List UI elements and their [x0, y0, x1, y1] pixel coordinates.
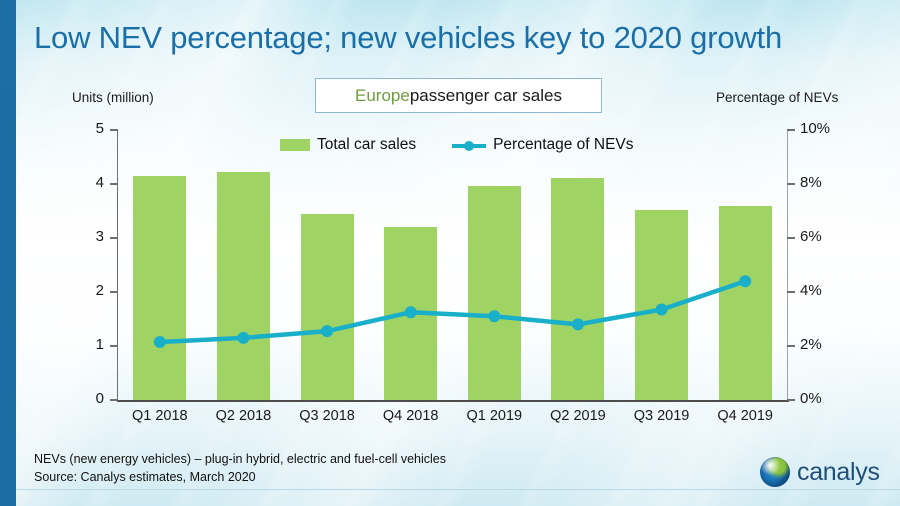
x-axis-label: Q1 2018 [118, 408, 202, 424]
footer-divider [16, 489, 900, 490]
bar [551, 178, 604, 400]
x-axis-label: Q4 2019 [703, 408, 787, 424]
left-axis-caption: Units (million) [72, 90, 154, 105]
y-tick-right [787, 237, 795, 238]
canalys-logo: canalys [760, 457, 880, 487]
y-axis-left [117, 130, 118, 401]
legend-label-percentage-of-nevs: Percentage of NEVs [493, 136, 633, 154]
legend-line-swatch-icon [452, 139, 486, 151]
legend-label-total-car-sales: Total car sales [317, 136, 416, 154]
x-axis-label: Q1 2019 [452, 408, 536, 424]
y-tick-label-right: 4% [800, 282, 822, 299]
y-tick-label-right: 10% [800, 120, 830, 137]
legend-item-total-car-sales: Total car sales [280, 136, 416, 154]
y-tick-label-left: 5 [80, 120, 104, 137]
logo-text: canalys [797, 458, 880, 486]
bar [468, 186, 521, 400]
bar [133, 176, 186, 400]
chart-legend: Total car sales Percentage of NEVs [280, 134, 634, 156]
bar [217, 172, 270, 400]
footnote: NEVs (new energy vehicles) – plug-in hyb… [34, 450, 446, 486]
x-axis-label: Q2 2018 [201, 408, 285, 424]
y-tick-label-left: 1 [80, 336, 104, 353]
subtitle-rest: passenger car sales [410, 86, 562, 106]
bar [719, 206, 772, 400]
y-tick-left [110, 399, 118, 400]
subtitle-highlight: Europe [355, 86, 410, 106]
y-tick-label-left: 4 [80, 174, 104, 191]
x-axis-label: Q3 2019 [620, 408, 704, 424]
y-tick-label-left: 2 [80, 282, 104, 299]
y-tick-right [787, 399, 795, 400]
y-tick-left [110, 183, 118, 184]
legend-item-percentage-of-nevs: Percentage of NEVs [452, 136, 633, 154]
left-accent-band [0, 0, 16, 506]
y-tick-left [110, 345, 118, 346]
slide-canvas: Low NEV percentage; new vehicles key to … [0, 0, 900, 506]
y-tick-left [110, 237, 118, 238]
chart-subtitle-box: Europe passenger car sales [315, 78, 602, 113]
y-tick-left [110, 129, 118, 130]
x-axis-line [117, 400, 789, 402]
page-title: Low NEV percentage; new vehicles key to … [34, 18, 884, 58]
y-axis-right [787, 130, 788, 401]
y-tick-label-right: 6% [800, 228, 822, 245]
footnote-line-1: NEVs (new energy vehicles) – plug-in hyb… [34, 450, 446, 468]
y-tick-label-right: 8% [800, 174, 822, 191]
footnote-line-2: Source: Canalys estimates, March 2020 [34, 468, 446, 486]
y-tick-right [787, 345, 795, 346]
y-tick-right [787, 183, 795, 184]
right-axis-caption: Percentage of NEVs [716, 90, 838, 105]
y-tick-label-right: 0% [800, 390, 822, 407]
y-tick-left [110, 291, 118, 292]
bar [301, 214, 354, 400]
bar [635, 210, 688, 400]
x-axis-label: Q3 2018 [285, 408, 369, 424]
legend-bar-swatch-icon [280, 139, 310, 151]
y-tick-label-left: 0 [80, 390, 104, 407]
y-tick-label-left: 3 [80, 228, 104, 245]
globe-icon [760, 457, 790, 487]
x-axis-label: Q4 2018 [369, 408, 453, 424]
x-axis-label: Q2 2019 [536, 408, 620, 424]
y-tick-label-right: 2% [800, 336, 822, 353]
bar [384, 227, 437, 400]
y-tick-right [787, 291, 795, 292]
y-tick-right [787, 129, 795, 130]
